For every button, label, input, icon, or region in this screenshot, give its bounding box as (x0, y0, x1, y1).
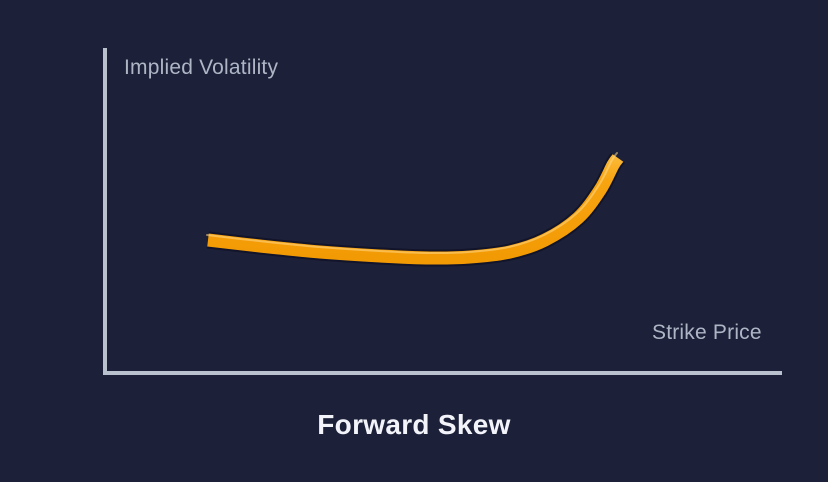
chart-figure: Implied Volatility Strike Price Forward … (0, 0, 828, 482)
chart-title: Forward Skew (0, 410, 828, 441)
x-axis-label: Strike Price (652, 322, 762, 343)
y-axis-label: Implied Volatility (124, 57, 278, 78)
skew-curve-group (207, 153, 618, 258)
